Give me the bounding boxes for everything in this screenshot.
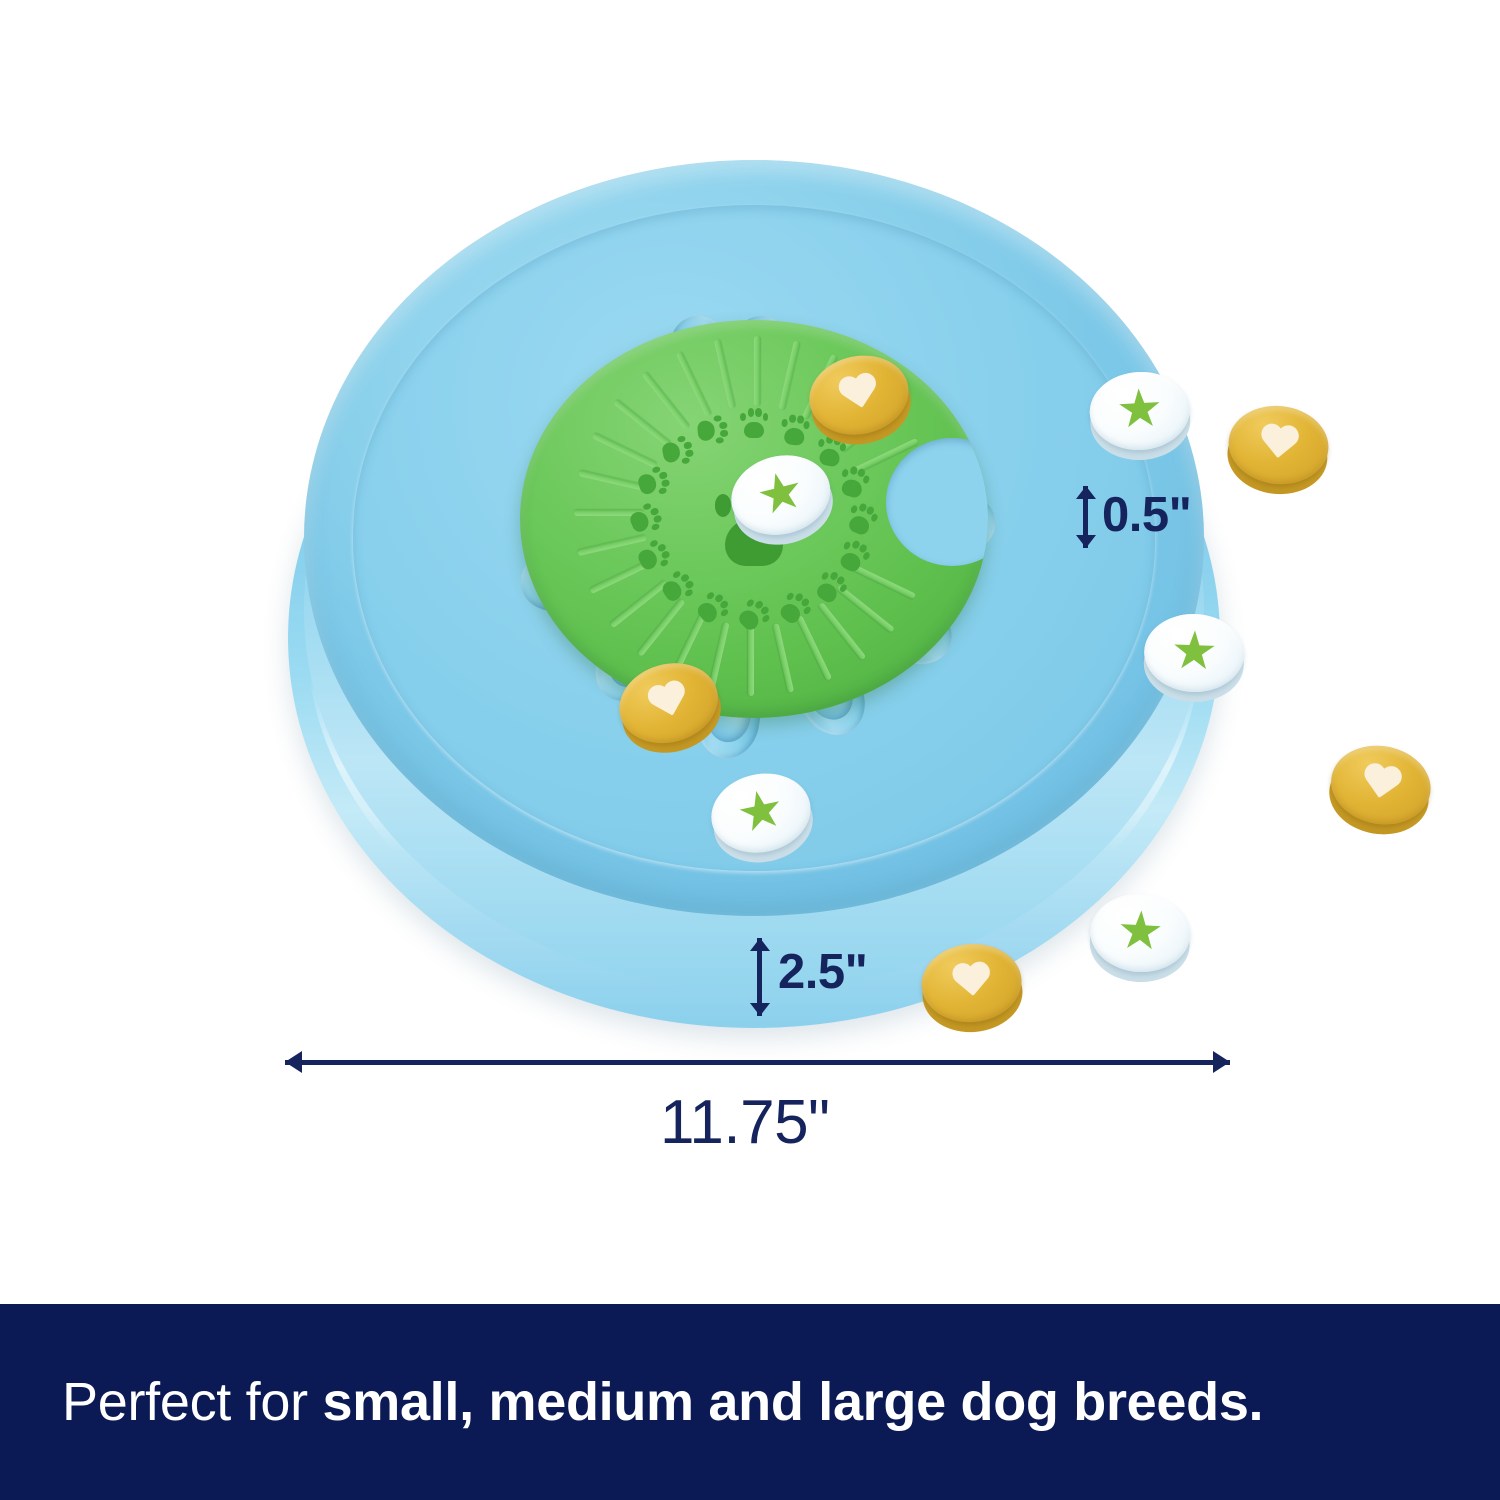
small-paw-print-icon (808, 565, 852, 609)
puck-symbol-star (1118, 387, 1162, 431)
disc-ridge (773, 623, 794, 693)
arrow-vertical-depth (752, 938, 768, 1016)
dog-puzzle-toy (282, 152, 1226, 1032)
star-icon (1173, 630, 1216, 673)
bottom-banner: Perfect for small, medium and large dog … (0, 1304, 1500, 1500)
puck-symbol-heart (1358, 763, 1403, 804)
star-icon (1118, 909, 1162, 953)
star-icon (755, 468, 806, 519)
disc-ridge (714, 339, 735, 409)
dimension-depth-label: 2.5" (778, 948, 867, 997)
disc-ridge (592, 432, 658, 468)
disc-ridge (676, 351, 712, 417)
small-paw-print-icon (778, 413, 813, 448)
heart-icon (644, 679, 692, 724)
heart-icon (835, 372, 881, 415)
small-paw-print-icon (841, 498, 882, 539)
disc-ridge (754, 336, 760, 406)
puck-symbol-star (1173, 630, 1216, 673)
star-icon (736, 787, 786, 837)
sliding-puck-heart[interactable] (1321, 736, 1439, 845)
dimension-height-callout: 0.5" (1078, 486, 1094, 548)
small-paw-print-icon (695, 413, 730, 448)
disc-ridge (818, 602, 866, 660)
dimension-depth-callout: 2.5" (752, 938, 768, 1016)
puck-symbol-star (736, 787, 786, 837)
disc-ridge (637, 598, 685, 656)
disc-ridge (778, 341, 799, 411)
banner-headline: Perfect for small, medium and large dog … (0, 1371, 1263, 1433)
sliding-puck-star[interactable] (1086, 889, 1195, 986)
sliding-puck-star[interactable] (1086, 367, 1195, 464)
disc-notch-cutout (886, 438, 988, 566)
sliding-puck-star[interactable] (1140, 610, 1247, 706)
product-photo-area: 0.5" 2.5" 11.75" (0, 0, 1500, 1290)
small-paw-print-icon (625, 498, 666, 539)
disc-ridge (642, 372, 690, 430)
dimension-width-arrow (285, 1060, 1230, 1066)
small-paw-print-icon (732, 593, 777, 638)
puck-symbol-heart (950, 962, 993, 1000)
puck-symbol-heart (835, 372, 881, 415)
heart-icon (1257, 424, 1300, 463)
puck-symbol-heart (644, 679, 692, 724)
arrow-vertical-small (1078, 486, 1094, 548)
dimension-width-label: 11.75" (660, 1092, 830, 1154)
small-paw-print-icon (738, 407, 770, 439)
disc-ridge (796, 615, 832, 681)
banner-emphasis: small, medium and large dog breeds. (323, 1372, 1264, 1432)
puck-symbol-heart (1257, 424, 1300, 463)
star-icon (1118, 387, 1162, 431)
small-paw-print-icon (659, 432, 696, 469)
product-image-stage: 0.5" 2.5" 11.75" Perfect for small, medi… (0, 0, 1500, 1500)
heart-icon (1358, 763, 1403, 804)
sliding-puck-heart[interactable] (1221, 399, 1334, 501)
puck-symbol-star (755, 468, 806, 519)
puck-symbol-star (1118, 909, 1162, 953)
banner-prefix: Perfect for (62, 1372, 323, 1432)
dimension-height-label: 0.5" (1102, 491, 1191, 540)
heart-icon (950, 962, 993, 1000)
sliding-puck-heart[interactable] (916, 938, 1028, 1039)
